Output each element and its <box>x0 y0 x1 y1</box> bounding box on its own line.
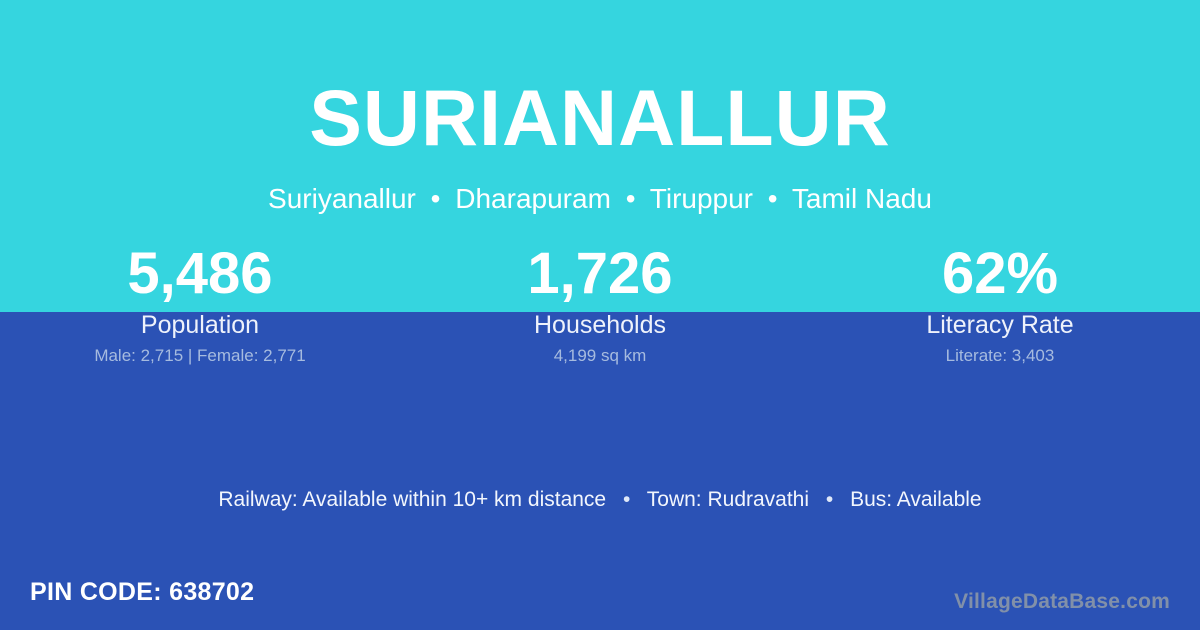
amenities-row: Railway: Available within 10+ km distanc… <box>0 485 1200 515</box>
breadcrumb-village: Suriyanallur <box>268 183 416 214</box>
breadcrumb: Suriyanallur • Dharapuram • Tiruppur • T… <box>0 182 1200 216</box>
amenity-railway: Railway: Available within 10+ km distanc… <box>218 488 606 511</box>
amenity-separator: • <box>612 488 641 511</box>
breadcrumb-block: Dharapuram <box>455 183 611 214</box>
amenity-town: Town: Rudravathi <box>647 488 809 511</box>
village-info-card: SURIANALLUR Suriyanallur • Dharapuram • … <box>0 0 1200 630</box>
statistics-strip: 5,486 Population Male: 2,715 | Female: 2… <box>0 240 1200 390</box>
stat-literacy-label: Literacy Rate <box>800 308 1200 342</box>
stat-households-label: Households <box>400 308 800 342</box>
stat-literacy-value: 62% <box>800 240 1200 308</box>
stat-literacy-count: Literate: 3,403 <box>800 342 1200 370</box>
stat-population-value: 5,486 <box>0 240 400 308</box>
brand-watermark: VillageDataBase.com <box>954 588 1170 616</box>
breadcrumb-state: Tamil Nadu <box>792 183 932 214</box>
stat-households-area: 4,199 sq km <box>400 342 800 370</box>
stat-households-value: 1,726 <box>400 240 800 308</box>
amenity-separator: • <box>815 488 844 511</box>
stat-population-label: Population <box>0 308 400 342</box>
page-title: SURIANALLUR <box>0 78 1200 157</box>
pin-code: PIN CODE: 638702 <box>30 575 254 609</box>
stat-households: 1,726 Households 4,199 sq km <box>400 240 800 390</box>
amenity-bus: Bus: Available <box>850 488 982 511</box>
stat-population: 5,486 Population Male: 2,715 | Female: 2… <box>0 240 400 390</box>
stat-literacy: 62% Literacy Rate Literate: 3,403 <box>800 240 1200 390</box>
breadcrumb-separator: • <box>761 183 785 214</box>
stat-population-breakdown: Male: 2,715 | Female: 2,771 <box>0 342 400 370</box>
breadcrumb-separator: • <box>424 183 448 214</box>
breadcrumb-district: Tiruppur <box>650 183 753 214</box>
breadcrumb-separator: • <box>619 183 643 214</box>
